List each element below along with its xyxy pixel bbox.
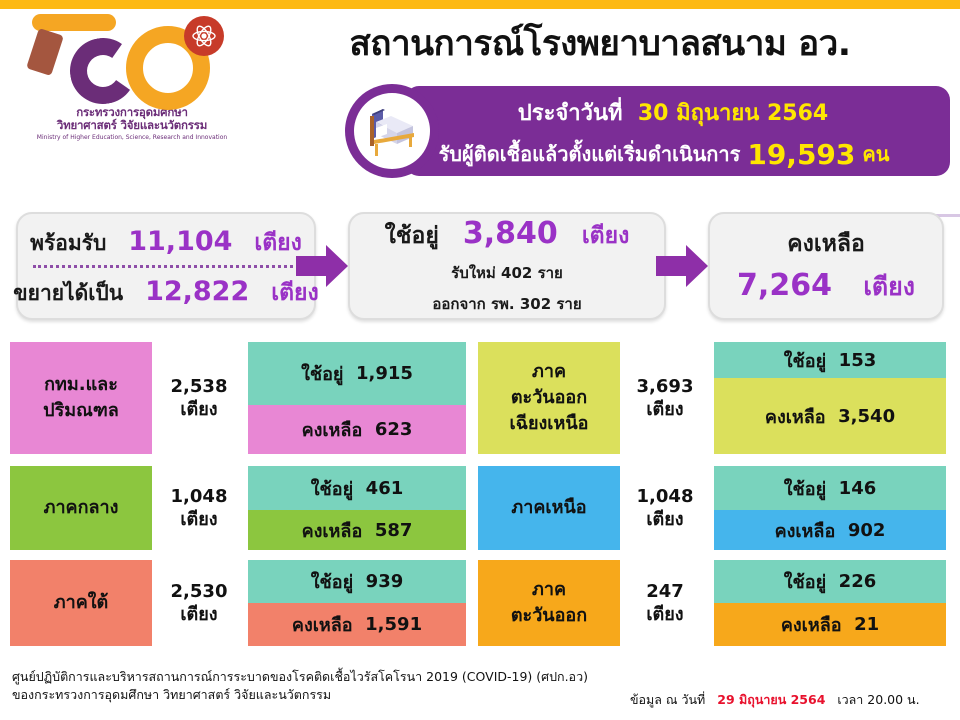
region-name-line: ภาค — [532, 577, 566, 603]
remaining-label: คงเหลือ — [787, 226, 865, 262]
region-total-beds-value: 1,048 — [171, 485, 228, 508]
region-bar-cell: ใช้อยู่ 939คงเหลือ 1,591 — [248, 560, 466, 646]
region-in-use-segment: ใช้อยู่ 461 — [248, 466, 466, 510]
region-in-use-segment: ใช้อยู่ 146 — [714, 466, 946, 510]
region-remaining-segment: คงเหลือ 21 — [714, 603, 946, 646]
footer-data-prefix: ข้อมูล ณ วันที่ — [630, 692, 705, 707]
ready-label-2: ขยายได้เป็น — [13, 281, 123, 305]
region-total-beds-cell: 3,693เตียง — [624, 342, 706, 454]
region-total-beds-cell: 1,048เตียง — [624, 466, 706, 550]
region-name-line: ภาคใต้ — [54, 590, 109, 616]
ministry-logo: กระทรวงการอุดมศึกษา วิทยาศาสตร์ วิจัยและ… — [32, 14, 232, 139]
logo-overlap — [26, 28, 64, 76]
logo-thai-line-2: วิทยาศาสตร์ วิจัยและนวัตกรรม — [32, 119, 232, 132]
region-bar-cell: ใช้อยู่ 461คงเหลือ 587 — [248, 466, 466, 550]
in-use-count: 226 — [839, 571, 877, 592]
region-total-beds-cell: 247เตียง — [624, 560, 706, 646]
region-name-cell: ภาคตะวันออก — [478, 560, 620, 646]
top-accent-bar — [0, 0, 960, 9]
region-name-line: กทม.และ — [44, 372, 118, 398]
remaining-count: 587 — [375, 520, 413, 541]
region-in-use-segment: ใช้อยู่ 1,915 — [248, 342, 466, 405]
region-table: กทม.และปริมณฑล2,538เตียงใช้อยู่ 1,915คงเ… — [0, 338, 960, 660]
in-use-count: 939 — [366, 571, 404, 592]
region-bar-cell: ใช้อยู่ 226คงเหลือ 21 — [714, 560, 946, 646]
ready-value-2: 12,822 — [145, 276, 249, 307]
arrow-right-icon — [296, 243, 348, 289]
region-in-use-segment: ใช้อยู่ 226 — [714, 560, 946, 603]
ready-label-1: พร้อมรับ — [30, 231, 106, 255]
footer-line-1: ศูนย์ปฏิบัติการและบริหารสถานการณ์การระบา… — [12, 668, 588, 686]
region-total-beds-unit: เตียง — [180, 398, 217, 421]
region-total-beds-cell: 2,530เตียง — [158, 560, 240, 646]
region-total-beds-unit: เตียง — [180, 603, 217, 626]
region-total-beds-value: 1,048 — [637, 485, 694, 508]
atom-icon — [184, 16, 224, 56]
footer-source: ศูนย์ปฏิบัติการและบริหารสถานการณ์การระบา… — [12, 668, 588, 704]
in-use-unit: เตียง — [582, 223, 630, 249]
ready-line-2: ขยายได้เป็น 12,822 เตียง — [13, 278, 318, 305]
region-total-beds-cell: 1,048เตียง — [158, 466, 240, 550]
region-name-cell: ภาคกลาง — [10, 466, 152, 550]
region-bar-cell: ใช้อยู่ 146คงเหลือ 902 — [714, 466, 946, 550]
in-use-prefix: ใช้อยู่ — [301, 359, 343, 388]
region-in-use-segment: ใช้อยู่ 939 — [248, 560, 466, 603]
region-in-use-segment: ใช้อยู่ 153 — [714, 342, 946, 378]
region-total-beds-cell: 2,538เตียง — [158, 342, 240, 454]
region-name-cell: กทม.และปริมณฑล — [10, 342, 152, 454]
in-use-count: 1,915 — [356, 363, 413, 384]
region-remaining-segment: คงเหลือ 902 — [714, 510, 946, 550]
remaining-prefix: คงเหลือ — [302, 415, 363, 444]
footer-line-2: ของกระทรวงการอุดมศึกษา วิทยาศาสตร์ วิจัย… — [12, 686, 588, 704]
region-name-line: ปริมณฑล — [43, 398, 119, 424]
banner-cumulative-row: รับผู้ติดเชื้อแล้วตั้งแต่เริ่มดำเนินการ … — [388, 136, 940, 172]
remaining-count: 3,540 — [838, 406, 895, 427]
region-name-cell: ภาคใต้ — [10, 560, 152, 646]
region-total-beds-unit: เตียง — [180, 508, 217, 531]
region-total-beds-value: 247 — [646, 580, 684, 603]
page-title: สถานการณ์โรงพยาบาลสนาม อว. — [250, 16, 950, 71]
card-ready-beds: พร้อมรับ 11,104 เตียง ขยายได้เป็น 12,822… — [16, 212, 316, 320]
region-total-beds-value: 2,538 — [171, 375, 228, 398]
region-name-line: ตะวันออก — [511, 603, 587, 629]
region-name-cell: ภาคตะวันออกเฉียงเหนือ — [478, 342, 620, 454]
remaining-count: 902 — [848, 520, 886, 541]
logo-mark — [32, 14, 232, 106]
logo-english-line: Ministry of Higher Education, Science, R… — [32, 133, 232, 142]
region-total-beds-value: 2,530 — [171, 580, 228, 603]
in-use-discharge-line: ออกจาก รพ. 302 ราย — [432, 292, 581, 316]
banner-cumulative-value: 19,593 — [747, 138, 855, 171]
card-divider — [33, 265, 299, 268]
remaining-prefix: คงเหลือ — [775, 516, 836, 545]
in-use-prefix: ใช้อยู่ — [784, 474, 826, 503]
ready-line-1: พร้อมรับ 11,104 เตียง — [30, 228, 302, 255]
region-total-beds-value: 3,693 — [637, 375, 694, 398]
banner-cumulative-label: รับผู้ติดเชื้อแล้วตั้งแต่เริ่มดำเนินการ — [439, 138, 741, 170]
card-in-use-beds: ใช้อยู่ 3,840 เตียง รับใหม่ 402 ราย ออกจ… — [348, 212, 666, 320]
remaining-value: 7,264 — [737, 268, 832, 303]
in-use-count: 461 — [366, 478, 404, 499]
ready-unit-1: เตียง — [254, 230, 302, 256]
region-name-line: เฉียงเหนือ — [510, 411, 589, 437]
banner-date-prefix: ประจำวันที่ — [518, 95, 623, 130]
card-remaining-beds: คงเหลือ 7,264 เตียง — [708, 212, 944, 320]
in-use-prefix: ใช้อยู่ — [784, 346, 826, 375]
remaining-prefix: คงเหลือ — [765, 402, 826, 431]
region-bar-cell: ใช้อยู่ 1,915คงเหลือ 623 — [248, 342, 466, 454]
in-use-prefix: ใช้อยู่ — [311, 567, 353, 596]
remaining-unit: เตียง — [863, 272, 915, 301]
in-use-headline: ใช้อยู่ 3,840 เตียง — [385, 216, 630, 254]
remaining-prefix: คงเหลือ — [292, 610, 353, 639]
region-name-line: ตะวันออก — [511, 385, 587, 411]
arrow-right-icon-2 — [656, 243, 708, 289]
region-name-cell: ภาคเหนือ — [478, 466, 620, 550]
region-remaining-segment: คงเหลือ 1,591 — [248, 603, 466, 646]
banner-date-value: 30 มิถุนายน 2564 — [638, 95, 828, 130]
region-name-line: ภาคกลาง — [44, 495, 119, 521]
region-remaining-segment: คงเหลือ 623 — [248, 405, 466, 454]
remaining-count: 21 — [854, 614, 879, 635]
remaining-headline: 7,264 เตียง — [737, 267, 915, 307]
region-name-line: ภาคเหนือ — [511, 495, 586, 521]
footer-data-date: 29 มิถุนายน 2564 — [717, 692, 825, 707]
remaining-count: 1,591 — [365, 614, 422, 635]
in-use-count: 153 — [839, 350, 877, 371]
remaining-count: 623 — [375, 419, 413, 440]
banner-date-row: ประจำวันที่ 30 มิถุนายน 2564 — [408, 96, 938, 128]
region-remaining-segment: คงเหลือ 3,540 — [714, 378, 946, 454]
infographic-page: กระทรวงการอุดมศึกษา วิทยาศาสตร์ วิจัยและ… — [0, 0, 960, 720]
remaining-prefix: คงเหลือ — [302, 516, 363, 545]
region-total-beds-unit: เตียง — [646, 603, 683, 626]
region-remaining-segment: คงเหลือ 587 — [248, 510, 466, 550]
banner-cumulative-unit: คน — [862, 138, 889, 170]
in-use-admit-line: รับใหม่ 402 ราย — [451, 261, 563, 285]
footer-data-timestamp: ข้อมูล ณ วันที่ 29 มิถุนายน 2564 เวลา 20… — [630, 690, 920, 710]
remaining-prefix: คงเหลือ — [781, 610, 842, 639]
in-use-prefix: ใช้อยู่ — [784, 567, 826, 596]
in-use-label: ใช้อยู่ — [385, 223, 439, 249]
region-bar-cell: ใช้อยู่ 153คงเหลือ 3,540 — [714, 342, 946, 454]
in-use-value: 3,840 — [463, 216, 558, 251]
region-total-beds-unit: เตียง — [646, 398, 683, 421]
footer-data-time: เวลา 20.00 น. — [837, 692, 919, 707]
ready-value-1: 11,104 — [128, 226, 232, 257]
in-use-count: 146 — [839, 478, 877, 499]
in-use-prefix: ใช้อยู่ — [311, 474, 353, 503]
region-name-line: ภาค — [532, 359, 566, 385]
logo-bar — [32, 14, 116, 31]
region-total-beds-unit: เตียง — [646, 508, 683, 531]
